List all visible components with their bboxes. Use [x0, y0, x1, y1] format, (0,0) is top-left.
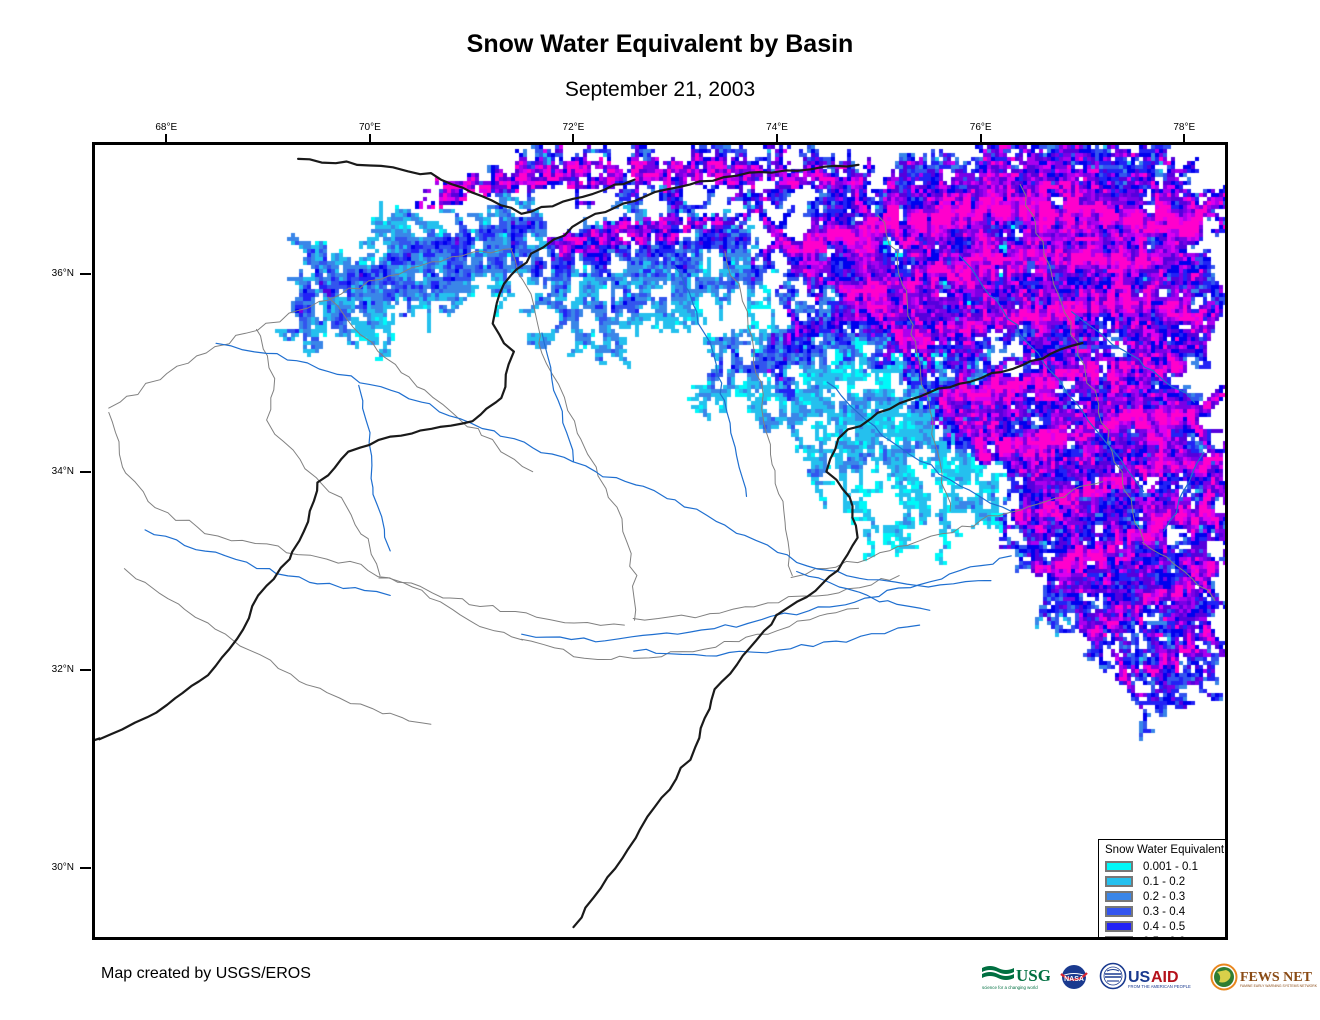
svg-text:NASA: NASA: [1064, 976, 1084, 983]
basin-boundary: [521, 608, 858, 659]
legend-title: Snow Water Equivalent (meters): [1105, 844, 1228, 856]
legend-swatch: [1105, 876, 1133, 887]
lon-label-74: 74°E: [747, 122, 807, 133]
legend-swatch: [1105, 906, 1133, 917]
lon-label-70: 70°E: [340, 122, 400, 133]
legend-label: 0.001 - 0.1: [1143, 861, 1198, 873]
river-line: [216, 343, 991, 587]
river-line: [1164, 452, 1204, 531]
lat-label-34: 34°N: [14, 466, 74, 477]
lat-tick-34: [80, 471, 91, 473]
map-page: Snow Water Equivalent by Basin September…: [0, 0, 1320, 1020]
lat-label-36: 36°N: [14, 268, 74, 279]
legend-row: 0.4 - 0.5: [1105, 919, 1228, 934]
basin-boundary: [633, 576, 899, 621]
basin-boundary: [1020, 185, 1143, 542]
basin-boundary: [1143, 542, 1215, 600]
basin-boundary: [725, 251, 792, 575]
lat-tick-32: [80, 669, 91, 671]
basin-boundary: [328, 297, 533, 471]
river-line: [542, 333, 574, 462]
legend-row: 0.1 - 0.2: [1105, 874, 1228, 889]
map-vector-layer: [95, 145, 1225, 937]
legend-row: 0.2 - 0.3: [1105, 889, 1228, 904]
lon-label-72: 72°E: [543, 122, 603, 133]
basin-boundary: [257, 329, 381, 575]
legend-swatch: [1105, 861, 1133, 872]
legend-label: 0.2 - 0.3: [1143, 891, 1185, 903]
country-border: [95, 738, 100, 744]
legend-class-list: 0.001 - 0.10.1 - 0.20.2 - 0.30.3 - 0.40.…: [1105, 859, 1228, 940]
logo-strip: USGS science for a changing world NASA U…: [980, 962, 1320, 992]
legend-row: 0.3 - 0.4: [1105, 904, 1228, 919]
country-border: [574, 615, 777, 927]
legend-row: 0.001 - 0.1: [1105, 859, 1228, 874]
svg-text:FROM THE AMERICAN PEOPLE: FROM THE AMERICAN PEOPLE: [1128, 984, 1191, 989]
basin-boundary: [379, 578, 625, 626]
page-title: Snow Water Equivalent by Basin: [0, 30, 1320, 59]
legend-label: 0.1 - 0.2: [1143, 876, 1185, 888]
svg-text:science for a changing world: science for a changing world: [982, 985, 1038, 990]
basin-boundary: [109, 413, 523, 641]
river-line: [674, 266, 746, 497]
river-line: [359, 385, 391, 551]
legend-swatch: [1105, 921, 1133, 932]
basin-boundary: [511, 249, 637, 620]
legend-panel[interactable]: Snow Water Equivalent (meters) 0.001 - 0…: [1098, 839, 1228, 940]
lon-label-76: 76°E: [951, 122, 1011, 133]
legend-swatch: [1105, 891, 1133, 902]
nasa-logo: NASA: [1057, 962, 1091, 992]
page-subtitle: September 21, 2003: [0, 78, 1320, 102]
basin-boundary: [109, 249, 513, 408]
lat-label-30: 30°N: [14, 862, 74, 873]
river-line: [1072, 312, 1195, 403]
svg-text:USGS: USGS: [1016, 966, 1050, 985]
legend-label: 0.3 - 0.4: [1143, 906, 1185, 918]
country-border: [777, 343, 1083, 615]
lon-label-68: 68°E: [136, 122, 196, 133]
river-line: [959, 256, 1143, 492]
legend-label: 0.5 - 0.6: [1143, 936, 1185, 941]
country-border: [298, 159, 634, 214]
fewsnet-logo: FEWS NET FAMINE EARLY WARNING SYSTEMS NE…: [1210, 962, 1320, 992]
legend-swatch: [1105, 936, 1133, 940]
legend-label: 0.4 - 0.5: [1143, 921, 1185, 933]
lat-tick-36: [80, 273, 91, 275]
lat-tick-30: [80, 867, 91, 869]
footer-credit: Map created by USGS/EROS: [101, 965, 311, 983]
map-frame[interactable]: Snow Water Equivalent (meters) 0.001 - 0…: [92, 142, 1228, 940]
river-line: [827, 382, 1011, 511]
usgs-logo: USGS science for a changing world: [980, 962, 1050, 992]
basin-boundary: [878, 215, 951, 511]
svg-text:FAMINE EARLY WARNING SYSTEMS N: FAMINE EARLY WARNING SYSTEMS NETWORK: [1240, 984, 1318, 988]
lon-label-78: 78°E: [1154, 122, 1214, 133]
lat-label-32: 32°N: [14, 664, 74, 675]
svg-text:FEWS NET: FEWS NET: [1240, 970, 1313, 985]
usaid-logo: US AID FROM THE AMERICAN PEOPLE: [1098, 962, 1203, 992]
legend-row: 0.5 - 0.6: [1105, 934, 1228, 940]
